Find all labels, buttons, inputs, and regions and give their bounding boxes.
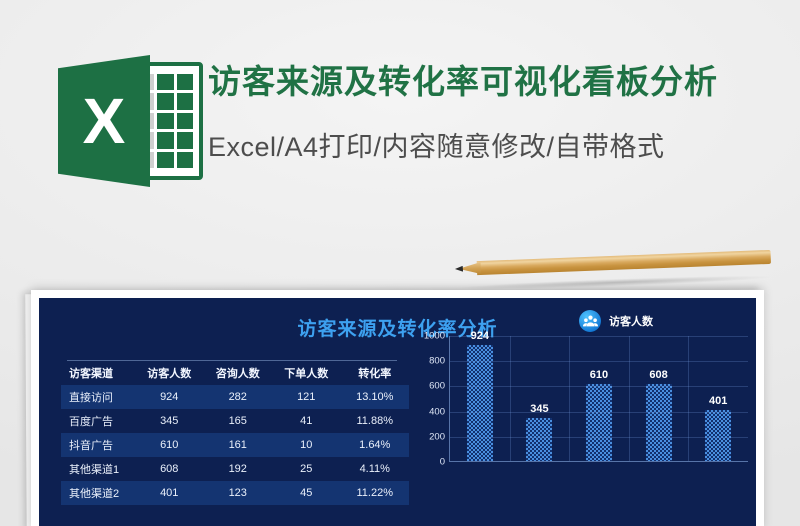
cell-visitors: 924 xyxy=(135,385,204,409)
cell-rate: 1.64% xyxy=(341,433,410,457)
legend-label: 访客人数 xyxy=(609,313,653,329)
cell-channel: 抖音广告 xyxy=(61,433,135,457)
bar-slot: 610 xyxy=(569,336,629,461)
bar-data-label: 401 xyxy=(709,395,727,407)
y-axis-tick-label: 800 xyxy=(411,356,445,367)
y-axis-tick-label: 0 xyxy=(411,457,445,468)
chart-legend: 访客人数 xyxy=(579,310,653,332)
bar-data-label: 608 xyxy=(649,369,667,381)
cell-orders: 41 xyxy=(272,409,341,433)
y-axis-tick-label: 600 xyxy=(411,381,445,392)
grid-line-horizontal xyxy=(450,437,748,438)
plot-area: 924345610608401 xyxy=(449,336,748,462)
data-table-container: 访客渠道 访客人数 咨询人数 下单人数 转化率 直接访问 924 282 121… xyxy=(61,360,411,505)
col-header-consults: 咨询人数 xyxy=(204,361,273,385)
cell-rate: 4.11% xyxy=(341,457,410,481)
y-axis-tick-label: 400 xyxy=(411,406,445,417)
cell-channel: 直接访问 xyxy=(61,385,135,409)
cell-channel: 其他渠道2 xyxy=(61,481,135,505)
chart-bar[interactable] xyxy=(646,384,672,461)
dashboard-panel: 访客来源及转化率分析 访客渠道 访客人数 咨询人数 下单人数 转化率 直接访问 xyxy=(39,298,756,526)
table-row[interactable]: 抖音广告 610 161 10 1.64% xyxy=(61,433,409,457)
grid-line-vertical xyxy=(629,336,630,461)
pencil-wood xyxy=(461,262,481,275)
table-header-row: 访客渠道 访客人数 咨询人数 下单人数 转化率 xyxy=(61,361,409,385)
cell-visitors: 401 xyxy=(135,481,204,505)
grid-line-horizontal xyxy=(450,412,748,413)
page-subtitle: Excel/A4打印/内容随意修改/自带格式 xyxy=(208,125,788,164)
pencil-tip xyxy=(455,266,463,272)
page-title: 访客来源及转化率可视化看板分析 xyxy=(208,60,788,105)
col-header-orders: 下单人数 xyxy=(272,361,341,385)
grid-line-horizontal xyxy=(450,386,748,387)
pencil-shadow xyxy=(462,274,770,292)
bar-series: 924345610608401 xyxy=(450,336,748,461)
cell-visitors: 608 xyxy=(135,457,204,481)
y-axis-tick-label: 200 xyxy=(411,431,445,442)
grid-line-horizontal xyxy=(450,336,748,337)
chart-bar[interactable] xyxy=(526,418,552,461)
cell-rate: 11.22% xyxy=(341,481,410,505)
promo-banner: X 访客来源及转化率可视化看板分析 Excel/A4打印/内容随意修改/自带格式 xyxy=(0,0,800,258)
chart-bar[interactable] xyxy=(586,384,612,461)
cell-rate: 13.10% xyxy=(341,385,410,409)
visitor-bar-chart: 访客人数 02004006008001000 924345610608401 xyxy=(411,304,752,526)
cell-orders: 121 xyxy=(272,385,341,409)
cell-consults: 123 xyxy=(204,481,273,505)
cell-consults: 161 xyxy=(204,433,273,457)
cell-visitors: 345 xyxy=(135,409,204,433)
chart-bar[interactable] xyxy=(705,410,731,461)
table-row[interactable]: 百度广告 345 165 41 11.88% xyxy=(61,409,409,433)
plot-host: 02004006008001000 924345610608401 xyxy=(411,336,750,496)
bar-data-label: 345 xyxy=(530,403,548,415)
cell-consults: 165 xyxy=(204,409,273,433)
excel-logo-letter: X xyxy=(58,55,150,187)
bar-slot: 345 xyxy=(510,336,570,461)
pencil-body xyxy=(477,250,771,275)
bar-slot: 608 xyxy=(629,336,689,461)
dashboard-card: 访客来源及转化率分析 访客渠道 访客人数 咨询人数 下单人数 转化率 直接访问 xyxy=(31,290,764,526)
cell-orders: 45 xyxy=(272,481,341,505)
excel-logo-icon: X xyxy=(58,55,203,187)
cell-channel: 其他渠道1 xyxy=(61,457,135,481)
bar-data-label: 610 xyxy=(590,369,608,381)
cell-channel: 百度广告 xyxy=(61,409,135,433)
bar-slot: 924 xyxy=(450,336,510,461)
table-row[interactable]: 直接访问 924 282 121 13.10% xyxy=(61,385,409,409)
col-header-channel: 访客渠道 xyxy=(61,361,135,385)
grid-line-vertical xyxy=(688,336,689,461)
table-row[interactable]: 其他渠道2 401 123 45 11.22% xyxy=(61,481,409,505)
cell-orders: 25 xyxy=(272,457,341,481)
y-axis: 02004006008001000 xyxy=(411,336,445,462)
y-axis-tick-label: 1000 xyxy=(411,331,445,342)
cell-consults: 282 xyxy=(204,385,273,409)
banner-text-block: 访客来源及转化率可视化看板分析 Excel/A4打印/内容随意修改/自带格式 xyxy=(208,60,788,164)
pencil-icon xyxy=(455,250,771,278)
grid-line-vertical xyxy=(569,336,570,461)
cell-consults: 192 xyxy=(204,457,273,481)
people-group-icon xyxy=(579,310,601,332)
table-row[interactable]: 其他渠道1 608 192 25 4.11% xyxy=(61,457,409,481)
col-header-visitors: 访客人数 xyxy=(135,361,204,385)
cell-visitors: 610 xyxy=(135,433,204,457)
cell-rate: 11.88% xyxy=(341,409,410,433)
col-header-rate: 转化率 xyxy=(341,361,410,385)
bar-slot: 401 xyxy=(688,336,748,461)
visitor-source-table: 访客渠道 访客人数 咨询人数 下单人数 转化率 直接访问 924 282 121… xyxy=(61,361,409,505)
cell-orders: 10 xyxy=(272,433,341,457)
grid-line-vertical xyxy=(510,336,511,461)
grid-line-horizontal xyxy=(450,361,748,362)
